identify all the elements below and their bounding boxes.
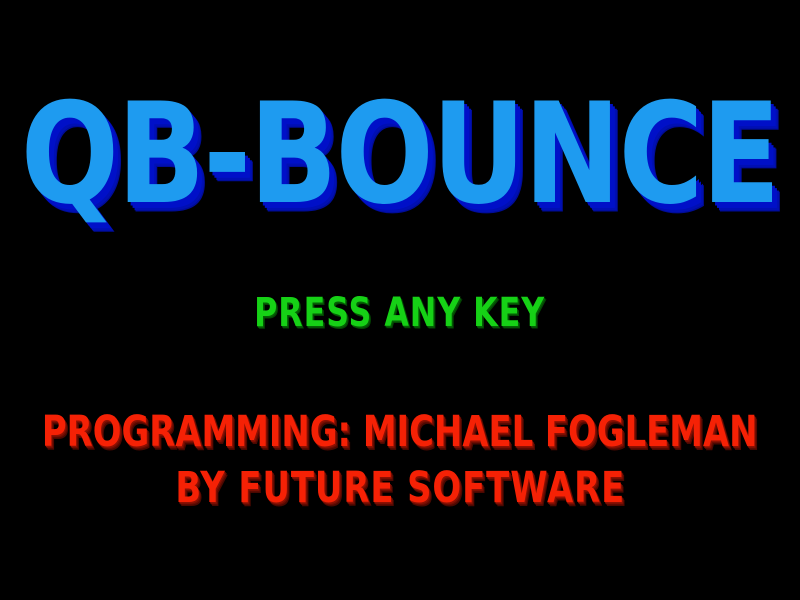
credits-line-publisher: BY FUTURE SOFTWARE <box>0 468 800 504</box>
credits-line-programming: PROGRAMMING: MICHAEL FOGLEMAN <box>0 412 800 448</box>
game-title: QB-BOUNCE <box>0 84 800 202</box>
press-any-key-text: PRESS ANY KEY <box>254 292 545 332</box>
credits-publisher-text: BY FUTURE SOFTWARE <box>175 468 625 510</box>
game-title-text: QB-BOUNCE <box>21 84 779 223</box>
press-any-key-prompt[interactable]: PRESS ANY KEY <box>0 292 800 325</box>
credits-programming-text: PROGRAMMING: MICHAEL FOGLEMAN <box>42 412 758 454</box>
splash-screen[interactable]: QB-BOUNCE PRESS ANY KEY PROGRAMMING: MIC… <box>0 0 800 600</box>
